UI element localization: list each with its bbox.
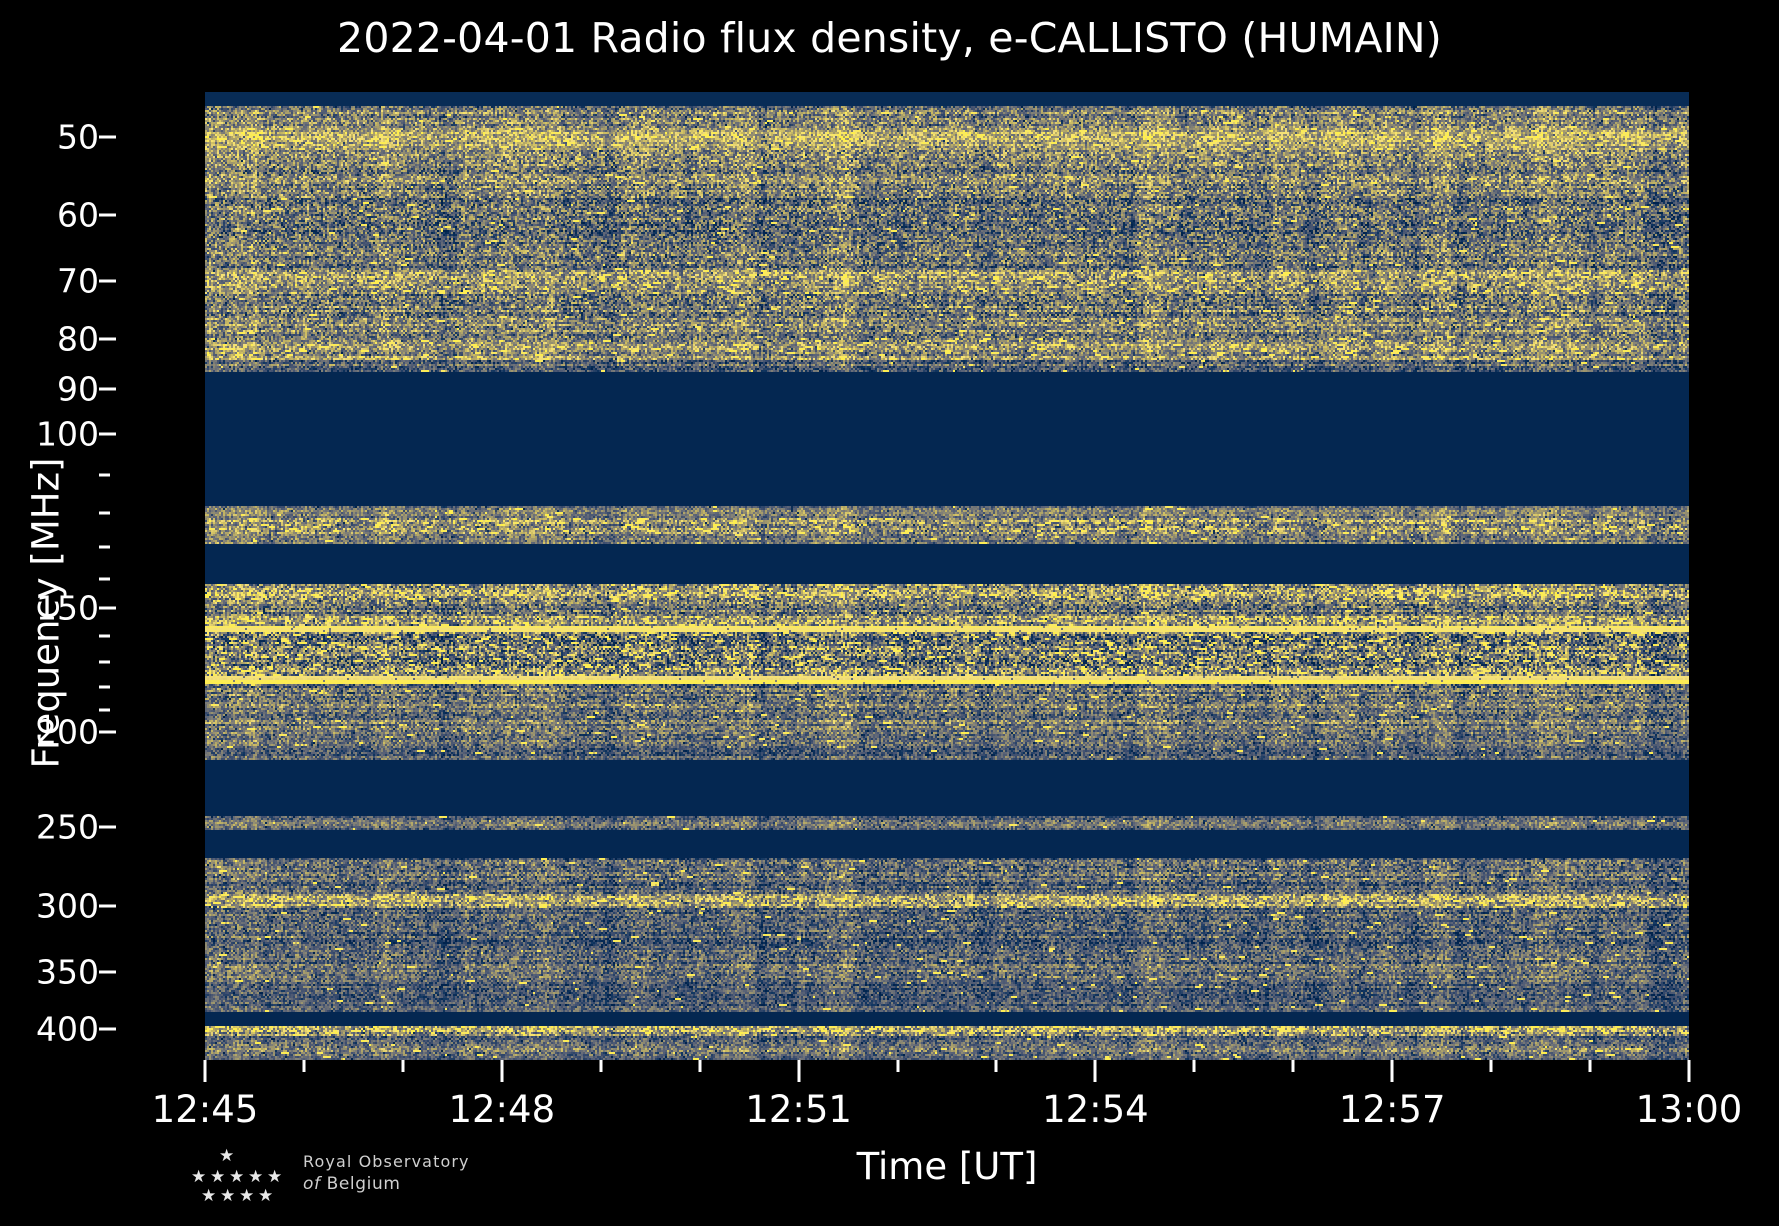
x-minor-tick	[995, 1060, 998, 1072]
star-icon: ★	[191, 1169, 206, 1186]
y-tick-mark-60	[99, 214, 116, 217]
y-minor-tick-160	[99, 635, 110, 638]
y-tick-mark-400	[99, 1027, 116, 1030]
star-icon: ★	[210, 1169, 225, 1186]
x-minor-tick	[1490, 1060, 1493, 1072]
logo-of-word: of	[303, 1174, 321, 1194]
y-minor-tick-180	[99, 685, 110, 688]
y-tick-mark-250	[99, 826, 116, 829]
y-tick-mark-150	[99, 607, 116, 610]
x-axis: 12:4512:4812:5112:5412:5713:00	[0, 1060, 1779, 1140]
y-tick-label-50: 50	[57, 118, 99, 157]
logo-country: Belgium	[327, 1174, 401, 1194]
y-tick-mark-50	[99, 136, 116, 139]
x-minor-tick	[896, 1060, 899, 1072]
stars-icon: ★★★★★★★★★★	[175, 1148, 295, 1206]
star-icon: ★	[267, 1169, 282, 1186]
y-tick-label-70: 70	[57, 262, 99, 301]
x-tick-label-12-51: 12:51	[745, 1088, 852, 1131]
x-tick-mark-12-57	[1391, 1060, 1394, 1082]
y-tick-label-300: 300	[36, 886, 99, 925]
y-minor-tick-110	[99, 474, 110, 477]
y-minor-tick-140	[99, 577, 110, 580]
x-tick-mark-13-00	[1688, 1060, 1691, 1082]
y-tick-mark-80	[99, 337, 116, 340]
x-minor-tick	[1292, 1060, 1295, 1072]
y-tick-label-80: 80	[57, 319, 99, 358]
spectrogram-image	[205, 92, 1689, 1060]
star-icon: ★	[219, 1148, 234, 1165]
page-title: 2022-04-01 Radio flux density, e-CALLIST…	[0, 14, 1779, 62]
star-icon: ★	[258, 1188, 273, 1205]
x-minor-tick	[1589, 1060, 1592, 1072]
x-minor-tick	[302, 1060, 305, 1072]
x-tick-mark-12-54	[1094, 1060, 1097, 1082]
star-icon: ★	[201, 1188, 216, 1205]
y-tick-label-90: 90	[57, 370, 99, 409]
y-axis: Frequency [MHz] 506070809010015020025030…	[0, 0, 205, 1226]
logo-line-2: of Belgium	[303, 1174, 470, 1194]
y-tick-label-200: 200	[36, 712, 99, 751]
y-tick-label-250: 250	[36, 808, 99, 847]
x-tick-label-13-00: 13:00	[1636, 1088, 1743, 1131]
x-tick-mark-12-51	[797, 1060, 800, 1082]
y-tick-mark-350	[99, 970, 116, 973]
y-tick-mark-70	[99, 280, 116, 283]
x-minor-tick	[401, 1060, 404, 1072]
y-tick-label-350: 350	[36, 952, 99, 991]
y-tick-mark-100	[99, 433, 116, 436]
figure-root: 2022-04-01 Radio flux density, e-CALLIST…	[0, 0, 1779, 1226]
x-minor-tick	[1193, 1060, 1196, 1072]
x-minor-tick	[698, 1060, 701, 1072]
y-tick-label-150: 150	[36, 589, 99, 628]
y-minor-tick-120	[99, 511, 110, 514]
star-icon: ★	[248, 1169, 263, 1186]
x-tick-label-12-54: 12:54	[1042, 1088, 1149, 1131]
x-tick-mark-12-48	[500, 1060, 503, 1082]
y-minor-tick-190	[99, 708, 110, 711]
x-minor-tick	[599, 1060, 602, 1072]
y-tick-mark-300	[99, 904, 116, 907]
y-tick-mark-200	[99, 730, 116, 733]
logo-line-1: Royal Observatory	[303, 1152, 470, 1171]
y-tick-label-60: 60	[57, 196, 99, 235]
x-tick-label-12-45: 12:45	[152, 1088, 259, 1131]
y-minor-tick-170	[99, 661, 110, 664]
y-minor-tick-130	[99, 545, 110, 548]
logo-text: Royal Observatory of Belgium	[303, 1152, 470, 1194]
x-tick-label-12-57: 12:57	[1339, 1088, 1446, 1131]
x-tick-mark-12-45	[204, 1060, 207, 1082]
y-tick-label-100: 100	[36, 415, 99, 454]
star-icon: ★	[229, 1169, 244, 1186]
royal-observatory-logo: ★★★★★★★★★★ Royal Observatory of Belgium	[175, 1148, 505, 1210]
y-tick-mark-90	[99, 388, 116, 391]
star-icon: ★	[239, 1188, 254, 1205]
star-icon: ★	[220, 1188, 235, 1205]
spectrogram-panel[interactable]	[205, 92, 1689, 1060]
y-tick-label-400: 400	[36, 1009, 99, 1048]
x-tick-label-12-48: 12:48	[448, 1088, 555, 1131]
